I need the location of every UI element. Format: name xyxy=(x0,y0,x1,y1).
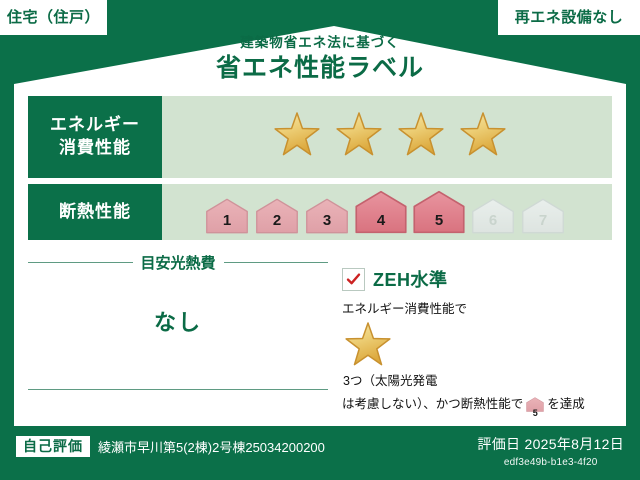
insulation-grade-3: 3 xyxy=(303,198,351,234)
evaluation-date: 評価日 2025年8月12日 xyxy=(477,434,624,454)
utility-cost-bottom-rule xyxy=(28,389,328,390)
insulation-grade-value: 1 xyxy=(203,212,251,229)
utility-cost-heading: 目安光熱費 xyxy=(28,252,328,273)
checkmark-icon xyxy=(342,268,365,291)
insulation-grade-value: 3 xyxy=(303,212,351,229)
renewable-energy-tag: 再エネ設備なし xyxy=(498,0,640,35)
building-type-tag: 住宅（住戸） xyxy=(0,0,107,35)
energy-performance-row: エネルギー 消費性能 xyxy=(28,96,612,178)
label-title: 省エネ性能ラベル xyxy=(0,55,640,83)
insulation-grade-7: 7 xyxy=(519,198,567,234)
zeh-desc-part4: を達成 xyxy=(547,397,585,411)
self-evaluation-tag: 自己評価 xyxy=(16,436,90,457)
utility-cost-value: なし xyxy=(28,305,328,337)
document-hash: edf3e49b-b1e3-4f20 xyxy=(477,457,624,468)
star-icon xyxy=(395,112,447,162)
star-rating xyxy=(265,112,509,162)
utility-cost-heading-text: 目安光熱費 xyxy=(141,252,216,273)
heading-rule-left xyxy=(28,262,133,263)
insulation-grade-value: 2 xyxy=(253,212,301,229)
insulation-grade-scale: 1234567 xyxy=(203,190,571,234)
insulation-grade-value: 4 xyxy=(353,212,409,229)
zeh-description: エネルギー消費性能で3つ（太陽光発電 は考慮しない）、かつ断熱性能で5を達成 xyxy=(342,300,612,418)
lower-section: 目安光熱費 なし ZEH水準 エネルギー消費性能で3つ（太陽光発電 xyxy=(28,248,612,408)
insulation-grade-5: 5 xyxy=(411,190,467,234)
zeh-desc-part3: は考慮しない）、かつ断熱性能で xyxy=(342,397,523,411)
star-icon xyxy=(271,112,323,162)
energy-performance-label: 住宅（住戸） 再エネ設備なし 建築物省エネ法に基づく 省エネ性能ラベル エネルギ… xyxy=(0,0,640,480)
insulation-performance-row: 断熱性能 1234567 xyxy=(28,184,612,240)
insulation-grade-4: 4 xyxy=(353,190,409,234)
label-title-block: 建築物省エネ法に基づく 省エネ性能ラベル xyxy=(0,36,640,82)
energy-performance-label-line1: エネルギー xyxy=(50,114,140,137)
insulation-grade-value: 6 xyxy=(469,212,517,229)
zeh-desc-part1: エネルギー消費性能で xyxy=(342,302,467,316)
property-identifier: 綾瀬市早川第5(2棟)2号棟25034200200 xyxy=(98,437,325,456)
label-footer: 自己評価 綾瀬市早川第5(2棟)2号棟25034200200 評価日 2025年… xyxy=(0,426,640,480)
footer-right: 評価日 2025年8月12日 edf3e49b-b1e3-4f20 xyxy=(477,434,624,468)
zeh-section: ZEH水準 エネルギー消費性能で3つ（太陽光発電 は考慮しない）、かつ断熱性能で… xyxy=(328,248,612,408)
house-grade-icon: 5 xyxy=(525,401,545,415)
zeh-heading: ZEH水準 xyxy=(342,266,612,292)
zeh-title: ZEH水準 xyxy=(373,266,448,292)
insulation-grade-2: 2 xyxy=(253,198,301,234)
insulation-grade-value: 5 xyxy=(411,212,467,229)
energy-performance-label-line2: 消費性能 xyxy=(59,137,131,160)
insulation-performance-label: 断熱性能 xyxy=(28,184,162,240)
insulation-grade-6: 6 xyxy=(469,198,517,234)
label-content: エネルギー 消費性能 断熱性能 1234567 目安光熱費 xyxy=(28,96,612,418)
star-icon xyxy=(342,322,612,372)
heading-rule-right xyxy=(224,262,329,263)
energy-performance-label: エネルギー 消費性能 xyxy=(28,96,162,178)
star-icon xyxy=(457,112,509,162)
footer-left: 自己評価 綾瀬市早川第5(2棟)2号棟25034200200 xyxy=(16,436,325,457)
insulation-grade-1: 1 xyxy=(203,198,251,234)
insulation-grade-value: 7 xyxy=(519,212,567,229)
star-icon xyxy=(333,112,385,162)
label-subtitle: 建築物省エネ法に基づく xyxy=(0,36,640,51)
zeh-desc-part2: 3つ（太陽光発電 xyxy=(343,374,437,388)
utility-cost-section: 目安光熱費 なし xyxy=(28,248,328,408)
insulation-performance-label-text: 断熱性能 xyxy=(59,201,131,224)
